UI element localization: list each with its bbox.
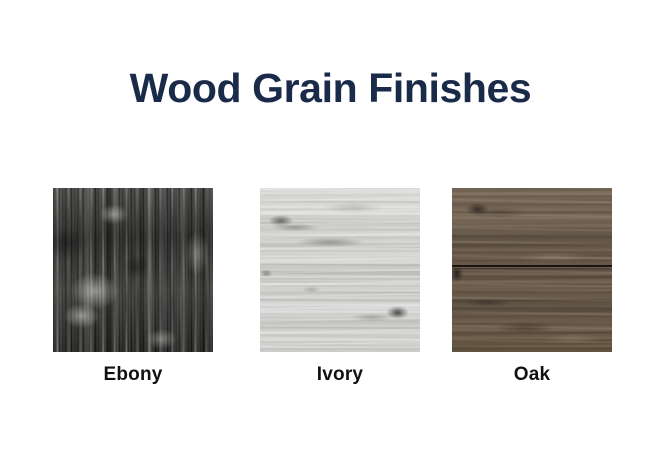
swatch-item-ebony[interactable]: Ebony	[53, 188, 213, 386]
page-title: Wood Grain Finishes	[0, 66, 661, 111]
oak-highlight-layer	[452, 188, 612, 352]
ebony-wood-swatch[interactable]	[53, 188, 213, 352]
swatch-label-ivory: Ivory	[260, 365, 420, 386]
oak-wood-swatch[interactable]	[452, 188, 612, 352]
swatch-gallery: Ebony Ivory Oak	[53, 188, 612, 388]
swatch-label-ebony: Ebony	[53, 365, 213, 386]
swatch-item-ivory[interactable]: Ivory	[260, 188, 420, 386]
swatch-label-oak: Oak	[452, 365, 612, 386]
slide-canvas: Wood Grain Finishes Ebony Ivory	[0, 0, 661, 472]
swatch-item-oak[interactable]: Oak	[452, 188, 612, 386]
ebony-fine-grain	[53, 188, 213, 352]
ivory-sheen-layer	[260, 188, 420, 352]
ivory-wood-swatch[interactable]	[260, 188, 420, 352]
